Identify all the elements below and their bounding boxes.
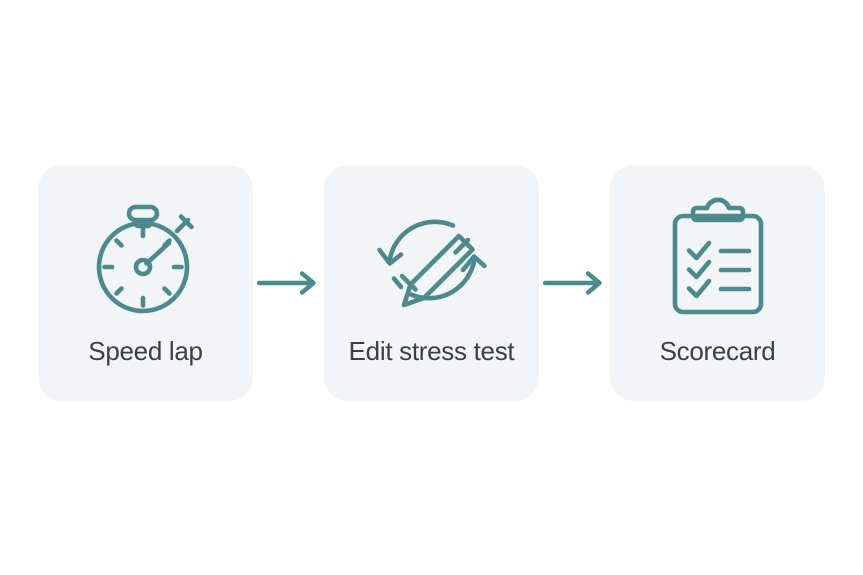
step-label-scorecard: Scorecard bbox=[660, 335, 776, 367]
step-card-edit-stress-test[interactable]: Edit stress test bbox=[324, 165, 539, 401]
flow-row: Speed lap bbox=[0, 165, 863, 401]
pencil-refresh-icon bbox=[367, 195, 497, 325]
step-card-scorecard[interactable]: Scorecard bbox=[610, 165, 825, 401]
step-card-speed-lap[interactable]: Speed lap bbox=[38, 165, 253, 401]
step-label-speed-lap: Speed lap bbox=[88, 335, 202, 367]
clipboard-checklist-icon bbox=[653, 195, 783, 325]
stopwatch-icon bbox=[81, 195, 211, 325]
arrow-right-icon bbox=[253, 165, 324, 401]
arrow-right-icon bbox=[539, 165, 610, 401]
step-label-edit-stress-test: Edit stress test bbox=[349, 335, 515, 367]
process-flow-diagram: Speed lap bbox=[0, 0, 863, 575]
